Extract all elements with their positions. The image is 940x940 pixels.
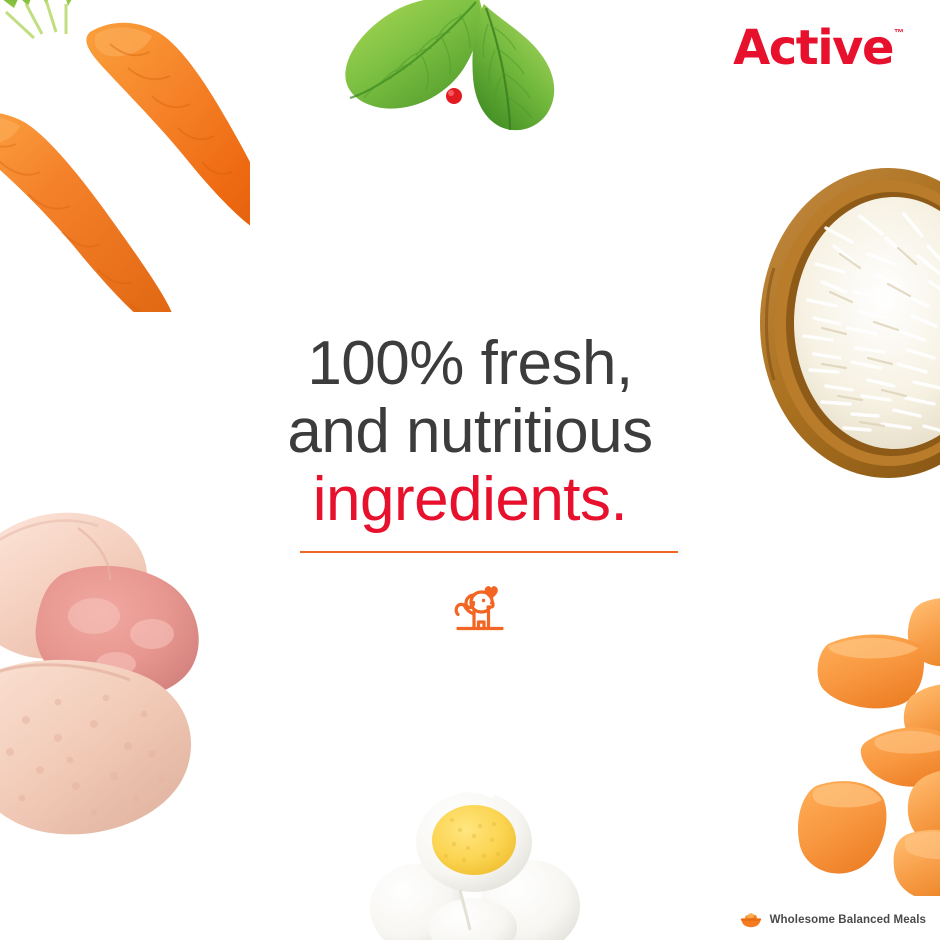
brand-logo: Active ™	[733, 24, 904, 72]
headline-line-3-accent: ingredients.	[0, 466, 940, 534]
ad-creative-canvas: Active ™ 100% fresh, and nutritious ingr…	[0, 0, 940, 940]
headline-line-1: 100% fresh,	[0, 330, 940, 398]
headline-line-2: and nutritious	[0, 398, 940, 466]
dog-with-heart-icon	[447, 578, 513, 636]
footer-badge: Wholesome Balanced Meals	[740, 912, 926, 928]
headline-block: 100% fresh, and nutritious ingredients.	[0, 330, 940, 534]
sweet-potato-photo	[798, 596, 940, 896]
boiled-eggs-photo	[368, 778, 583, 940]
footer-badge-label: Wholesome Balanced Meals	[770, 914, 926, 926]
divider-rule	[300, 551, 678, 553]
basil-leaves-photo	[338, 0, 573, 142]
brand-logo-text: Active	[733, 24, 893, 72]
raw-chicken-photo	[0, 498, 216, 848]
carrots-photo	[0, 0, 250, 312]
trademark-symbol: ™	[894, 28, 904, 39]
food-bowl-icon	[740, 912, 762, 928]
